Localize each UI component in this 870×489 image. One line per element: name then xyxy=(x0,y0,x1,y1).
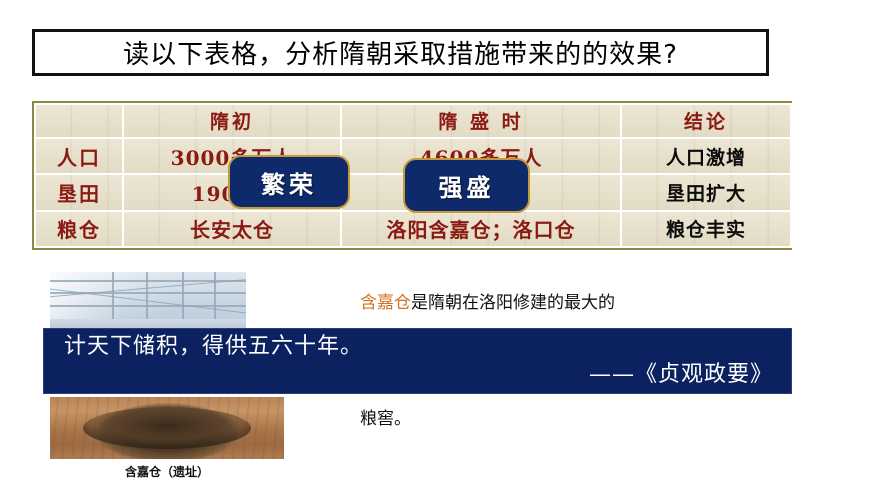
row-label-farmland: 垦田 xyxy=(35,174,123,210)
callout-pill-prosperity[interactable]: 繁荣 xyxy=(228,155,350,209)
granary-interior-image xyxy=(50,272,246,335)
callout-pill-strength[interactable]: 强盛 xyxy=(403,158,530,213)
beam-line xyxy=(50,286,246,316)
pit-rim xyxy=(83,407,252,449)
beam-line xyxy=(50,305,246,307)
cell-farmland-conclusion: 垦田扩大 xyxy=(621,174,791,210)
table-header-early: 隋初 xyxy=(123,104,341,138)
table-header-blank xyxy=(35,104,123,138)
table-header-conclusion: 结论 xyxy=(621,104,791,138)
cell-granary-peak: 洛阳含嘉仓；洛口仓 xyxy=(341,211,621,247)
row-label-population: 人口 xyxy=(35,138,123,174)
description-rest: 是隋朝在洛阳修建的最大的 xyxy=(411,293,615,313)
description-paragraph: 含嘉仓是隋朝在洛阳修建的最大的 xyxy=(360,290,790,316)
page-title: 读以下表格，分析隋朝采取措施带来的的效果? xyxy=(123,34,678,71)
row-label-granary: 粮仓 xyxy=(35,211,123,247)
description-continuation: 粮窖。 xyxy=(360,404,411,429)
cell-population-conclusion: 人口激增 xyxy=(621,138,791,174)
granary-pit-caption: 含嘉仓（遗址） xyxy=(50,463,284,480)
table-header-row: 隋初 隋 盛 时 结论 xyxy=(35,104,791,138)
cell-granary-early: 长安太仓 xyxy=(123,211,341,247)
cell-granary-conclusion: 粮仓丰实 xyxy=(621,211,791,247)
quote-text: 计天下储积，得供五六十年。 xyxy=(64,333,773,361)
table-header-peak: 隋 盛 时 xyxy=(341,104,621,138)
granary-pit-image xyxy=(50,397,284,459)
slide-title-box: 读以下表格，分析隋朝采取措施带来的的效果? xyxy=(32,29,769,76)
quote-banner: 计天下储积，得供五六十年。 ——《贞观政要》 xyxy=(43,328,792,394)
table-row: 粮仓 长安太仓 洛阳含嘉仓；洛口仓 粮仓丰实 xyxy=(35,211,791,247)
term-hanjia-granary: 含嘉仓 xyxy=(360,293,411,313)
quote-source: ——《贞观政要》 xyxy=(64,361,773,389)
